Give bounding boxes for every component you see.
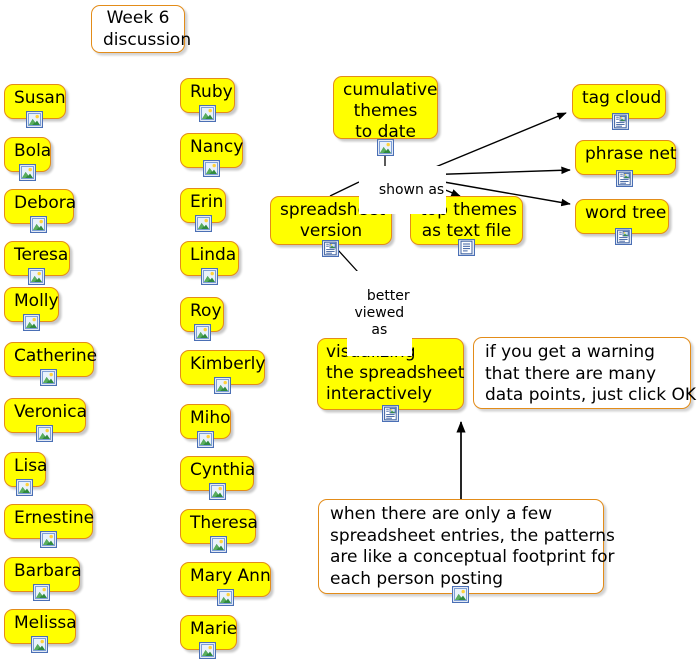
person-label: Debora bbox=[14, 193, 64, 214]
document-icon[interactable] bbox=[458, 239, 475, 256]
person-label: Veronica bbox=[14, 402, 76, 423]
concept-map-canvas: Week 6 discussion Susan Bola Debora Tere… bbox=[0, 0, 697, 665]
person-label: Erin bbox=[190, 192, 216, 213]
person-label: Molly bbox=[14, 291, 49, 312]
image-icon[interactable] bbox=[452, 586, 469, 603]
person-label: Nancy bbox=[190, 137, 233, 158]
image-icon[interactable] bbox=[26, 111, 43, 128]
link-phrase-better-viewed-as[interactable]: better viewed as bbox=[347, 271, 412, 356]
image-icon[interactable] bbox=[30, 216, 47, 233]
person-label: Bola bbox=[14, 141, 41, 162]
image-icon[interactable] bbox=[19, 164, 36, 181]
person-label: Melissa bbox=[14, 613, 66, 634]
person-label: Linda bbox=[190, 245, 229, 266]
document-image-icon[interactable] bbox=[612, 113, 629, 130]
image-icon[interactable] bbox=[199, 105, 216, 122]
image-icon[interactable] bbox=[197, 431, 214, 448]
person-label: Susan bbox=[14, 88, 56, 109]
concept-label: phrase net bbox=[585, 144, 666, 165]
note-box-footprint[interactable]: when there are only a few spreadsheet en… bbox=[318, 499, 604, 594]
person-label: Barbara bbox=[14, 561, 70, 582]
image-icon[interactable] bbox=[36, 425, 53, 442]
link-phrase-text: shown as bbox=[379, 182, 444, 198]
person-label: Theresa bbox=[190, 513, 246, 534]
person-label: Catherine bbox=[14, 346, 84, 367]
concept-label: word tree bbox=[585, 203, 659, 224]
image-icon[interactable] bbox=[377, 139, 394, 156]
image-icon[interactable] bbox=[28, 268, 45, 285]
image-icon[interactable] bbox=[214, 377, 231, 394]
image-icon[interactable] bbox=[31, 636, 48, 653]
image-icon[interactable] bbox=[40, 369, 57, 386]
image-icon[interactable] bbox=[195, 215, 212, 232]
image-icon[interactable] bbox=[203, 160, 220, 177]
person-label: Ernestine bbox=[14, 508, 83, 529]
person-label: Kimberly bbox=[190, 354, 255, 375]
image-icon[interactable] bbox=[210, 536, 227, 553]
concept-node-cumulative-themes[interactable]: cumulative themes to date bbox=[333, 76, 438, 139]
image-icon[interactable] bbox=[40, 531, 57, 548]
image-icon[interactable] bbox=[33, 584, 50, 601]
title-text: Week 6 discussion bbox=[103, 8, 173, 51]
note-box-warning[interactable]: if you get a warning that there are many… bbox=[473, 337, 691, 409]
person-label: Marie bbox=[190, 619, 227, 640]
document-image-icon[interactable] bbox=[382, 405, 399, 422]
person-label: Lisa bbox=[14, 456, 36, 477]
link-shownas-to-spreadsheet bbox=[330, 182, 359, 196]
image-icon[interactable] bbox=[217, 589, 234, 606]
document-image-icon[interactable] bbox=[322, 240, 339, 257]
person-label: Ruby bbox=[190, 82, 225, 103]
link-phrase-text: better viewed as bbox=[354, 288, 409, 338]
person-label: Mary Ann bbox=[190, 566, 261, 587]
note-text: if you get a warning that there are many… bbox=[485, 342, 679, 407]
image-icon[interactable] bbox=[201, 268, 218, 285]
note-text: when there are only a few spreadsheet en… bbox=[330, 504, 592, 590]
document-image-icon[interactable] bbox=[615, 228, 632, 245]
image-icon[interactable] bbox=[23, 314, 40, 331]
concept-label: tag cloud bbox=[582, 88, 656, 109]
person-label: Roy bbox=[190, 301, 214, 322]
document-image-icon[interactable] bbox=[616, 170, 633, 187]
person-label: Miho bbox=[190, 408, 221, 429]
concept-label: cumulative themes to date bbox=[343, 80, 428, 143]
person-label: Cynthia bbox=[190, 460, 244, 481]
image-icon[interactable] bbox=[209, 483, 226, 500]
image-icon[interactable] bbox=[199, 642, 216, 659]
image-icon[interactable] bbox=[16, 479, 33, 496]
link-phrase-shown-as[interactable]: shown as bbox=[359, 166, 446, 214]
link-shownas-to-tag-cloud bbox=[421, 113, 566, 173]
person-label: Teresa bbox=[14, 245, 60, 266]
link-spreadsheet-to-betterviewed bbox=[338, 250, 358, 272]
title-box[interactable]: Week 6 discussion bbox=[91, 5, 185, 53]
image-icon[interactable] bbox=[194, 324, 211, 341]
